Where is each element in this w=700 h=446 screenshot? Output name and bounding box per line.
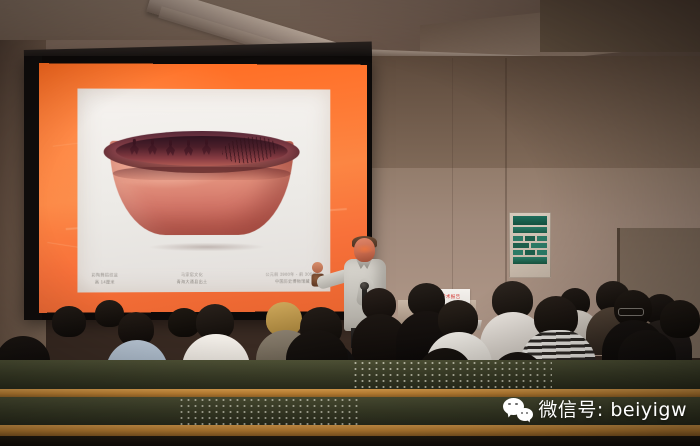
seat-perforation-pattern [178,397,358,427]
seat-back-row-middle [0,360,700,390]
lecture-hall-photo: 彩陶舞蹈纹盆 高 14厘米 马家窑文化 青海大通县出土 公元前 3980年 - … [0,0,700,446]
audience-member-head [660,300,700,338]
desk-front-edge-shadow [0,436,700,446]
eyeglasses-icon [618,308,644,316]
wechat-logo-icon [503,397,533,421]
audience-member-head [52,306,86,337]
watermark: 微信号: beiyigw [503,395,687,422]
watermark-label: 微信号: beiyigw [538,395,687,422]
seat-perforation-pattern [352,360,552,390]
